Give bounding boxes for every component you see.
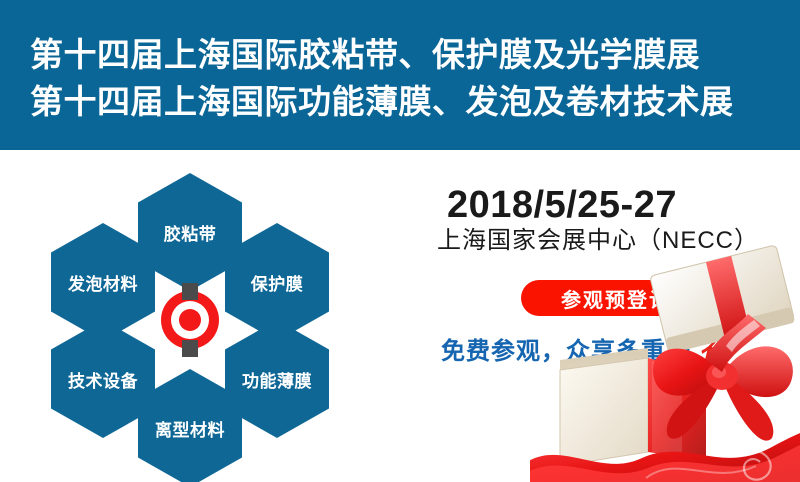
hexagon-category-diagram: 胶粘带 发泡材料 保护膜 技术设备 功能薄膜 离型材料 [30,170,360,470]
hexagon-label: 胶粘带 [164,220,217,245]
header-title-line-2: 第十四届上海国际功能薄膜、发泡及卷材技术展 [30,85,734,118]
exhibition-banner: 第十四届上海国际胶粘带、保护膜及光学膜展 第十四届上海国际功能薄膜、发泡及卷材技… [0,0,800,482]
hexagon-label: 离型材料 [155,416,225,441]
visitor-pre-registration-button[interactable]: 参观预登记 [521,280,711,316]
hexagon-label: 发泡材料 [68,270,138,295]
exhibition-logo-icon [161,283,219,357]
logo-bar-top-icon [182,283,198,300]
hexagon-label: 保护膜 [251,270,304,295]
header-title-line-1: 第十四届上海国际胶粘带、保护膜及光学膜展 [30,38,700,71]
event-venue: 上海国家会展中心（NECC） [437,228,759,254]
hexagon-label: 功能薄膜 [242,367,312,392]
promo-tagline: 免费参观，众享多重好礼 [441,336,729,365]
logo-bar-bottom-icon [182,340,198,357]
hexagon-label: 技术设备 [68,367,138,392]
logo-center-dot [179,309,201,331]
promo-tagline-text: 免费参观，众享多重好 [441,338,691,365]
event-date: 2018/5/25-27 [447,186,677,224]
promo-gift-character: 礼 [699,334,729,366]
banner-header: 第十四届上海国际胶粘带、保护膜及光学膜展 第十四届上海国际功能薄膜、发泡及卷材技… [0,0,800,150]
